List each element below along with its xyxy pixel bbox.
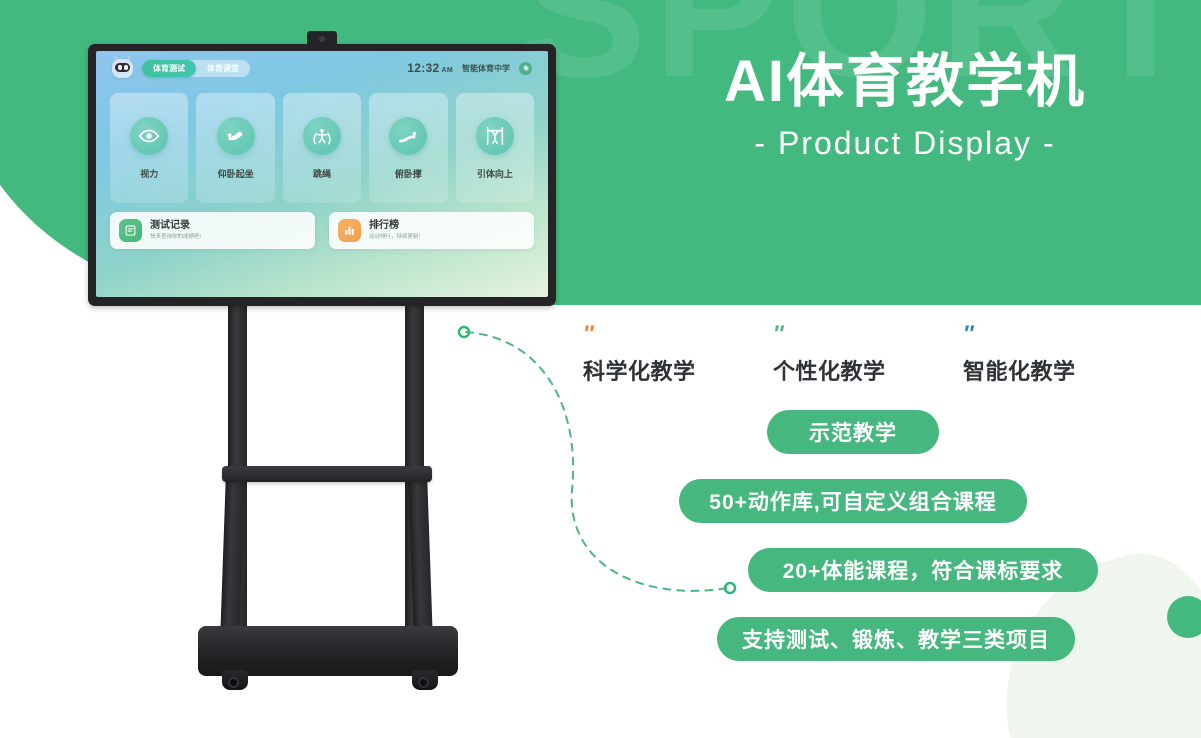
interactive-display-device: 体育测试 体育课堂 12:32AM 智能体育中学 (88, 44, 556, 306)
pullup-icon (476, 117, 514, 155)
tab-sports-test[interactable]: 体育测试 (142, 60, 196, 77)
situp-icon (217, 117, 255, 155)
page-title: AI体育教学机 (690, 52, 1120, 113)
card-situp[interactable]: 仰卧起坐 (196, 93, 274, 203)
school-name-label: 智能体育中学 (462, 63, 510, 74)
card-label: 引体向上 (477, 167, 513, 180)
feature-title: 智能化教学 (963, 354, 1123, 386)
robot-antenna-right-icon (127, 55, 131, 59)
card-leaderboard[interactable]: 排行榜 运动排行，持续更新! (329, 212, 534, 249)
card-label: 跳绳 (313, 167, 331, 180)
card-text: 排行榜 运动排行，持续更新! (369, 220, 420, 241)
card-label: 俯卧撑 (395, 167, 422, 180)
pill-three-project-types[interactable]: 支持测试、锻炼、教学三类项目 (717, 617, 1075, 661)
device-screen[interactable]: 体育测试 体育课堂 12:32AM 智能体育中学 (96, 51, 548, 297)
tab-sports-class[interactable]: 体育课堂 (196, 60, 250, 77)
robot-avatar-icon (112, 59, 133, 78)
status-clock: 12:32AM (407, 61, 453, 75)
device-bezel: 体育测试 体育课堂 12:32AM 智能体育中学 (88, 44, 556, 306)
record-list-icon (119, 219, 142, 242)
tv-cart-stand (180, 300, 480, 712)
gear-icon[interactable] (519, 62, 532, 75)
card-pushup[interactable]: 俯卧撑 (369, 93, 447, 203)
card-jumprope[interactable]: 跳绳 (283, 93, 361, 203)
screen-wide-card-row: 测试记录 快来查询你的成绩吧! 排行榜 运动排行，持续更新! (110, 212, 534, 249)
jump-rope-icon (303, 117, 341, 155)
card-title: 排行榜 (369, 220, 420, 233)
pushup-icon (389, 117, 427, 155)
feature-intelligent: ″ 智能化教学 (963, 326, 1123, 386)
cart-caster-left (222, 670, 248, 690)
clock-time: 12:32 (407, 61, 439, 75)
feature-personalized: ″ 个性化教学 (773, 326, 933, 386)
test-card-grid: 视力 仰卧起坐 跳绳 (110, 93, 534, 203)
feature-title: 科学化教学 (583, 354, 743, 386)
cart-caster-right (412, 670, 438, 690)
poster-stage: SPORTS AI体育教学机 - Product Display - (0, 0, 1201, 738)
card-text: 测试记录 快来查询你的成绩吧! (150, 220, 201, 241)
screen-tab-group: 体育测试 体育课堂 (142, 60, 250, 77)
hero-text-block: AI体育教学机 - Product Display - (690, 52, 1120, 162)
pill-action-library[interactable]: 50+动作库,可自定义组合课程 (679, 479, 1027, 523)
clock-ampm: AM (442, 67, 454, 74)
cart-base-platform (198, 626, 458, 676)
card-pullup[interactable]: 引体向上 (456, 93, 534, 203)
page-subtitle: - Product Display - (690, 125, 1120, 162)
card-subtitle: 快来查询你的成绩吧! (150, 234, 201, 241)
card-subtitle: 运动排行，持续更新! (369, 234, 420, 241)
feature-title: 个性化教学 (773, 354, 933, 386)
feature-scientific: ″ 科学化教学 (583, 326, 743, 386)
screen-status-bar: 体育测试 体育课堂 12:32AM 智能体育中学 (96, 51, 548, 85)
card-vision[interactable]: 视力 (110, 93, 188, 203)
bar-chart-icon (338, 219, 361, 242)
status-bar-right: 12:32AM 智能体育中学 (407, 61, 532, 75)
quote-mark-icon: ″ (773, 326, 933, 341)
card-test-records[interactable]: 测试记录 快来查询你的成绩吧! (110, 212, 315, 249)
quote-mark-icon: ″ (583, 326, 743, 341)
small-green-dot-decoration (1167, 596, 1201, 638)
robot-face-icon (115, 63, 130, 72)
feature-heading-row: ″ 科学化教学 ″ 个性化教学 ″ 智能化教学 (583, 326, 1123, 386)
pill-demo-teaching[interactable]: 示范教学 (767, 410, 939, 454)
card-label: 仰卧起坐 (218, 167, 254, 180)
pill-fitness-courses[interactable]: 20+体能课程，符合课标要求 (748, 548, 1098, 592)
card-title: 测试记录 (150, 220, 201, 233)
robot-antenna-left-icon (114, 55, 118, 59)
quote-mark-icon: ″ (963, 326, 1123, 341)
card-label: 视力 (140, 167, 158, 180)
eye-icon (130, 117, 168, 155)
cart-shelf (222, 466, 432, 482)
feature-pill-list: 示范教学 50+动作库,可自定义组合课程 20+体能课程，符合课标要求 支持测试… (583, 410, 1123, 661)
